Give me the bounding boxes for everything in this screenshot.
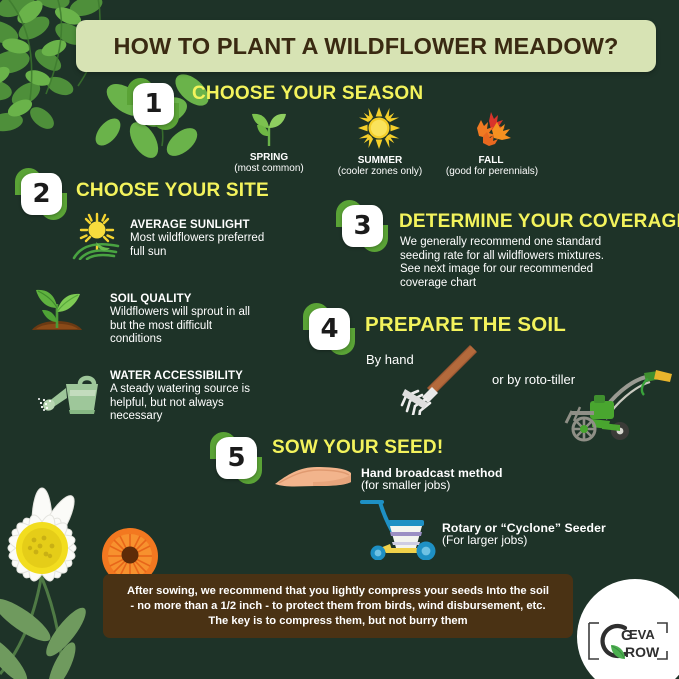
badge-square: 2 — [21, 173, 62, 215]
logo-text-grow: ROW — [625, 644, 660, 660]
sow-note-hand-broadcast: (for smaller jobs) — [361, 479, 450, 493]
site-body-line: A steady watering source is — [110, 383, 250, 397]
sun-over-field-icon — [70, 212, 124, 260]
season-note-summer: (cooler zones only) — [326, 166, 434, 177]
coverage-body-line: See next image for our recommended — [400, 263, 604, 277]
step-badge-4: 4 — [303, 303, 355, 355]
site-body-water: A steady watering source is helpful, but… — [110, 383, 250, 424]
banner-text: After sowing, we recommend that you ligh… — [117, 584, 559, 629]
banner-line: After sowing, we recommend that you ligh… — [127, 585, 549, 597]
season-name-fall: FALL — [455, 155, 527, 166]
sun-icon — [357, 107, 401, 149]
site-body-sunlight: Most wildflowers preferred full sun — [130, 232, 264, 259]
step-number-2: 2 — [32, 181, 50, 207]
step-number-3: 3 — [353, 213, 371, 239]
season-note-fall: (good for perennials) — [436, 166, 548, 177]
open-hand-icon — [273, 462, 355, 492]
step-badge-2: 2 — [15, 168, 67, 220]
site-body-line: full sun — [130, 246, 264, 260]
site-body-line: Most wildflowers preferred — [130, 232, 264, 246]
daisy-flower-decoration — [0, 452, 200, 679]
page-title: HOW TO PLANT A WILDFLOWER MEADOW? — [114, 33, 619, 60]
bottom-banner: After sowing, we recommend that you ligh… — [103, 574, 573, 638]
site-title-water: WATER ACCESSIBILITY — [110, 370, 243, 382]
step-number-1: 1 — [144, 91, 162, 117]
site-body-line: helpful, but not always — [110, 397, 250, 411]
logo-text-eva: EVA — [629, 627, 655, 642]
geva-grow-logomark: EVA ROW G — [585, 615, 671, 667]
season-name-spring: SPRING — [230, 152, 308, 163]
badge-square: 4 — [309, 308, 350, 350]
rake-icon — [398, 343, 480, 415]
logo-text-g: G — [621, 627, 633, 644]
brand-logo[interactable]: EVA ROW G — [567, 591, 679, 679]
site-title-sunlight: AVERAGE SUNLIGHT — [130, 219, 250, 231]
coverage-body-line: seeding rate for all wildflowers mixture… — [400, 250, 604, 264]
infographic-poster: HOW TO PLANT A WILDFLOWER MEADOW? 1 CHOO… — [0, 0, 679, 679]
badge-square: 1 — [133, 83, 174, 125]
step-heading-1: CHOOSE YOUR SEASON — [192, 83, 423, 105]
seedling-icon — [248, 108, 290, 148]
banner-line: - no more than a 1/2 inch - to protect t… — [130, 600, 545, 612]
coverage-body-line: We generally recommend one standard — [400, 236, 604, 250]
site-body-line: conditions — [110, 333, 250, 347]
badge-square: 5 — [216, 437, 257, 479]
banner-line: The key is to compress them, but not bur… — [208, 615, 467, 627]
maple-leaf-icon — [467, 108, 513, 148]
seedling-in-soil-icon — [26, 278, 88, 334]
step-heading-2: CHOOSE YOUR SITE — [76, 180, 269, 202]
step-badge-3: 3 — [336, 200, 388, 252]
site-body-line: Wildflowers will sprout in all — [110, 306, 250, 320]
step-heading-3: DETERMINE YOUR COVERAGE — [399, 211, 679, 233]
poster-title-bar: HOW TO PLANT A WILDFLOWER MEADOW? — [76, 20, 656, 72]
step-number-5: 5 — [227, 445, 245, 471]
roto-tiller-icon — [550, 367, 675, 447]
step-heading-5: SOW YOUR SEED! — [272, 437, 443, 459]
badge-square: 3 — [342, 205, 383, 247]
site-body-line: necessary — [110, 410, 250, 424]
site-title-soil: SOIL QUALITY — [110, 293, 192, 305]
step-badge-5: 5 — [210, 432, 262, 484]
coverage-body-line: coverage chart — [400, 277, 604, 291]
step-number-4: 4 — [320, 316, 338, 342]
step-badge-1: 1 — [127, 78, 179, 130]
watering-can-icon — [36, 372, 106, 418]
step-heading-4: PREPARE THE SOIL — [365, 313, 566, 337]
coverage-body: We generally recommend one standard seed… — [400, 236, 604, 290]
sow-note-rotary-seeder: (For larger jobs) — [442, 534, 527, 548]
season-note-spring: (most common) — [218, 163, 320, 174]
season-name-summer: SUMMER — [340, 155, 420, 166]
site-body-line: but the most difficult — [110, 320, 250, 334]
site-body-soil: Wildflowers will sprout in all but the m… — [110, 306, 250, 347]
rotary-spreader-icon — [356, 498, 444, 560]
